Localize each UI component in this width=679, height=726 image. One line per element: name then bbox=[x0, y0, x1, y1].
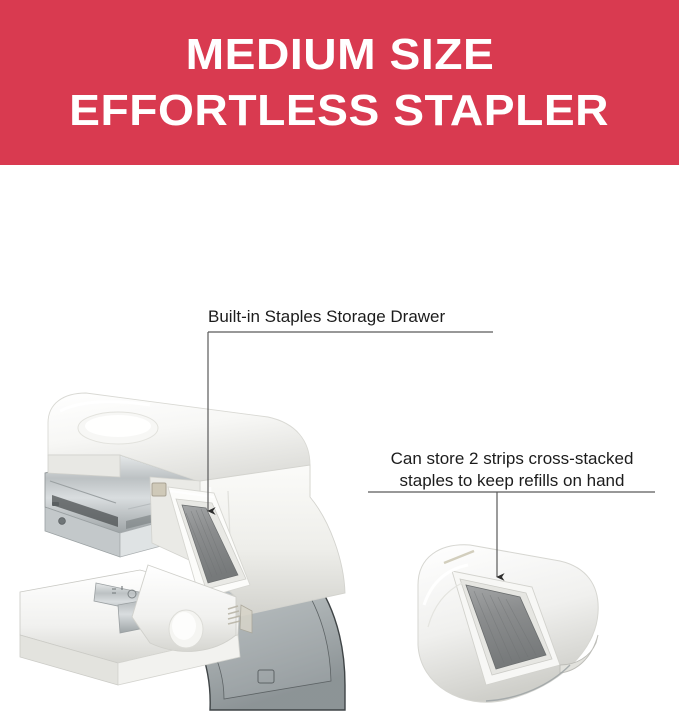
stapler-main bbox=[20, 393, 345, 710]
header-banner: MEDIUM SIZE EFFORTLESS STAPLER bbox=[0, 0, 679, 165]
banner-title-line-2: EFFORTLESS STAPLER bbox=[70, 89, 610, 133]
product-illustration bbox=[0, 165, 679, 726]
callout-storage-drawer-label: Built-in Staples Storage Drawer bbox=[208, 306, 445, 328]
storage-drawer-closeup-inset bbox=[418, 545, 598, 702]
callout-capacity-label: Can store 2 strips cross-stacked staples… bbox=[368, 448, 656, 492]
body-square-port bbox=[152, 483, 166, 496]
callout-capacity-line-1: Can store 2 strips cross-stacked bbox=[368, 448, 656, 470]
banner-title-line-1: MEDIUM SIZE bbox=[185, 33, 494, 77]
mechanism-pivot bbox=[59, 518, 66, 525]
callout-capacity-line-2: staples to keep refills on hand bbox=[368, 470, 656, 492]
